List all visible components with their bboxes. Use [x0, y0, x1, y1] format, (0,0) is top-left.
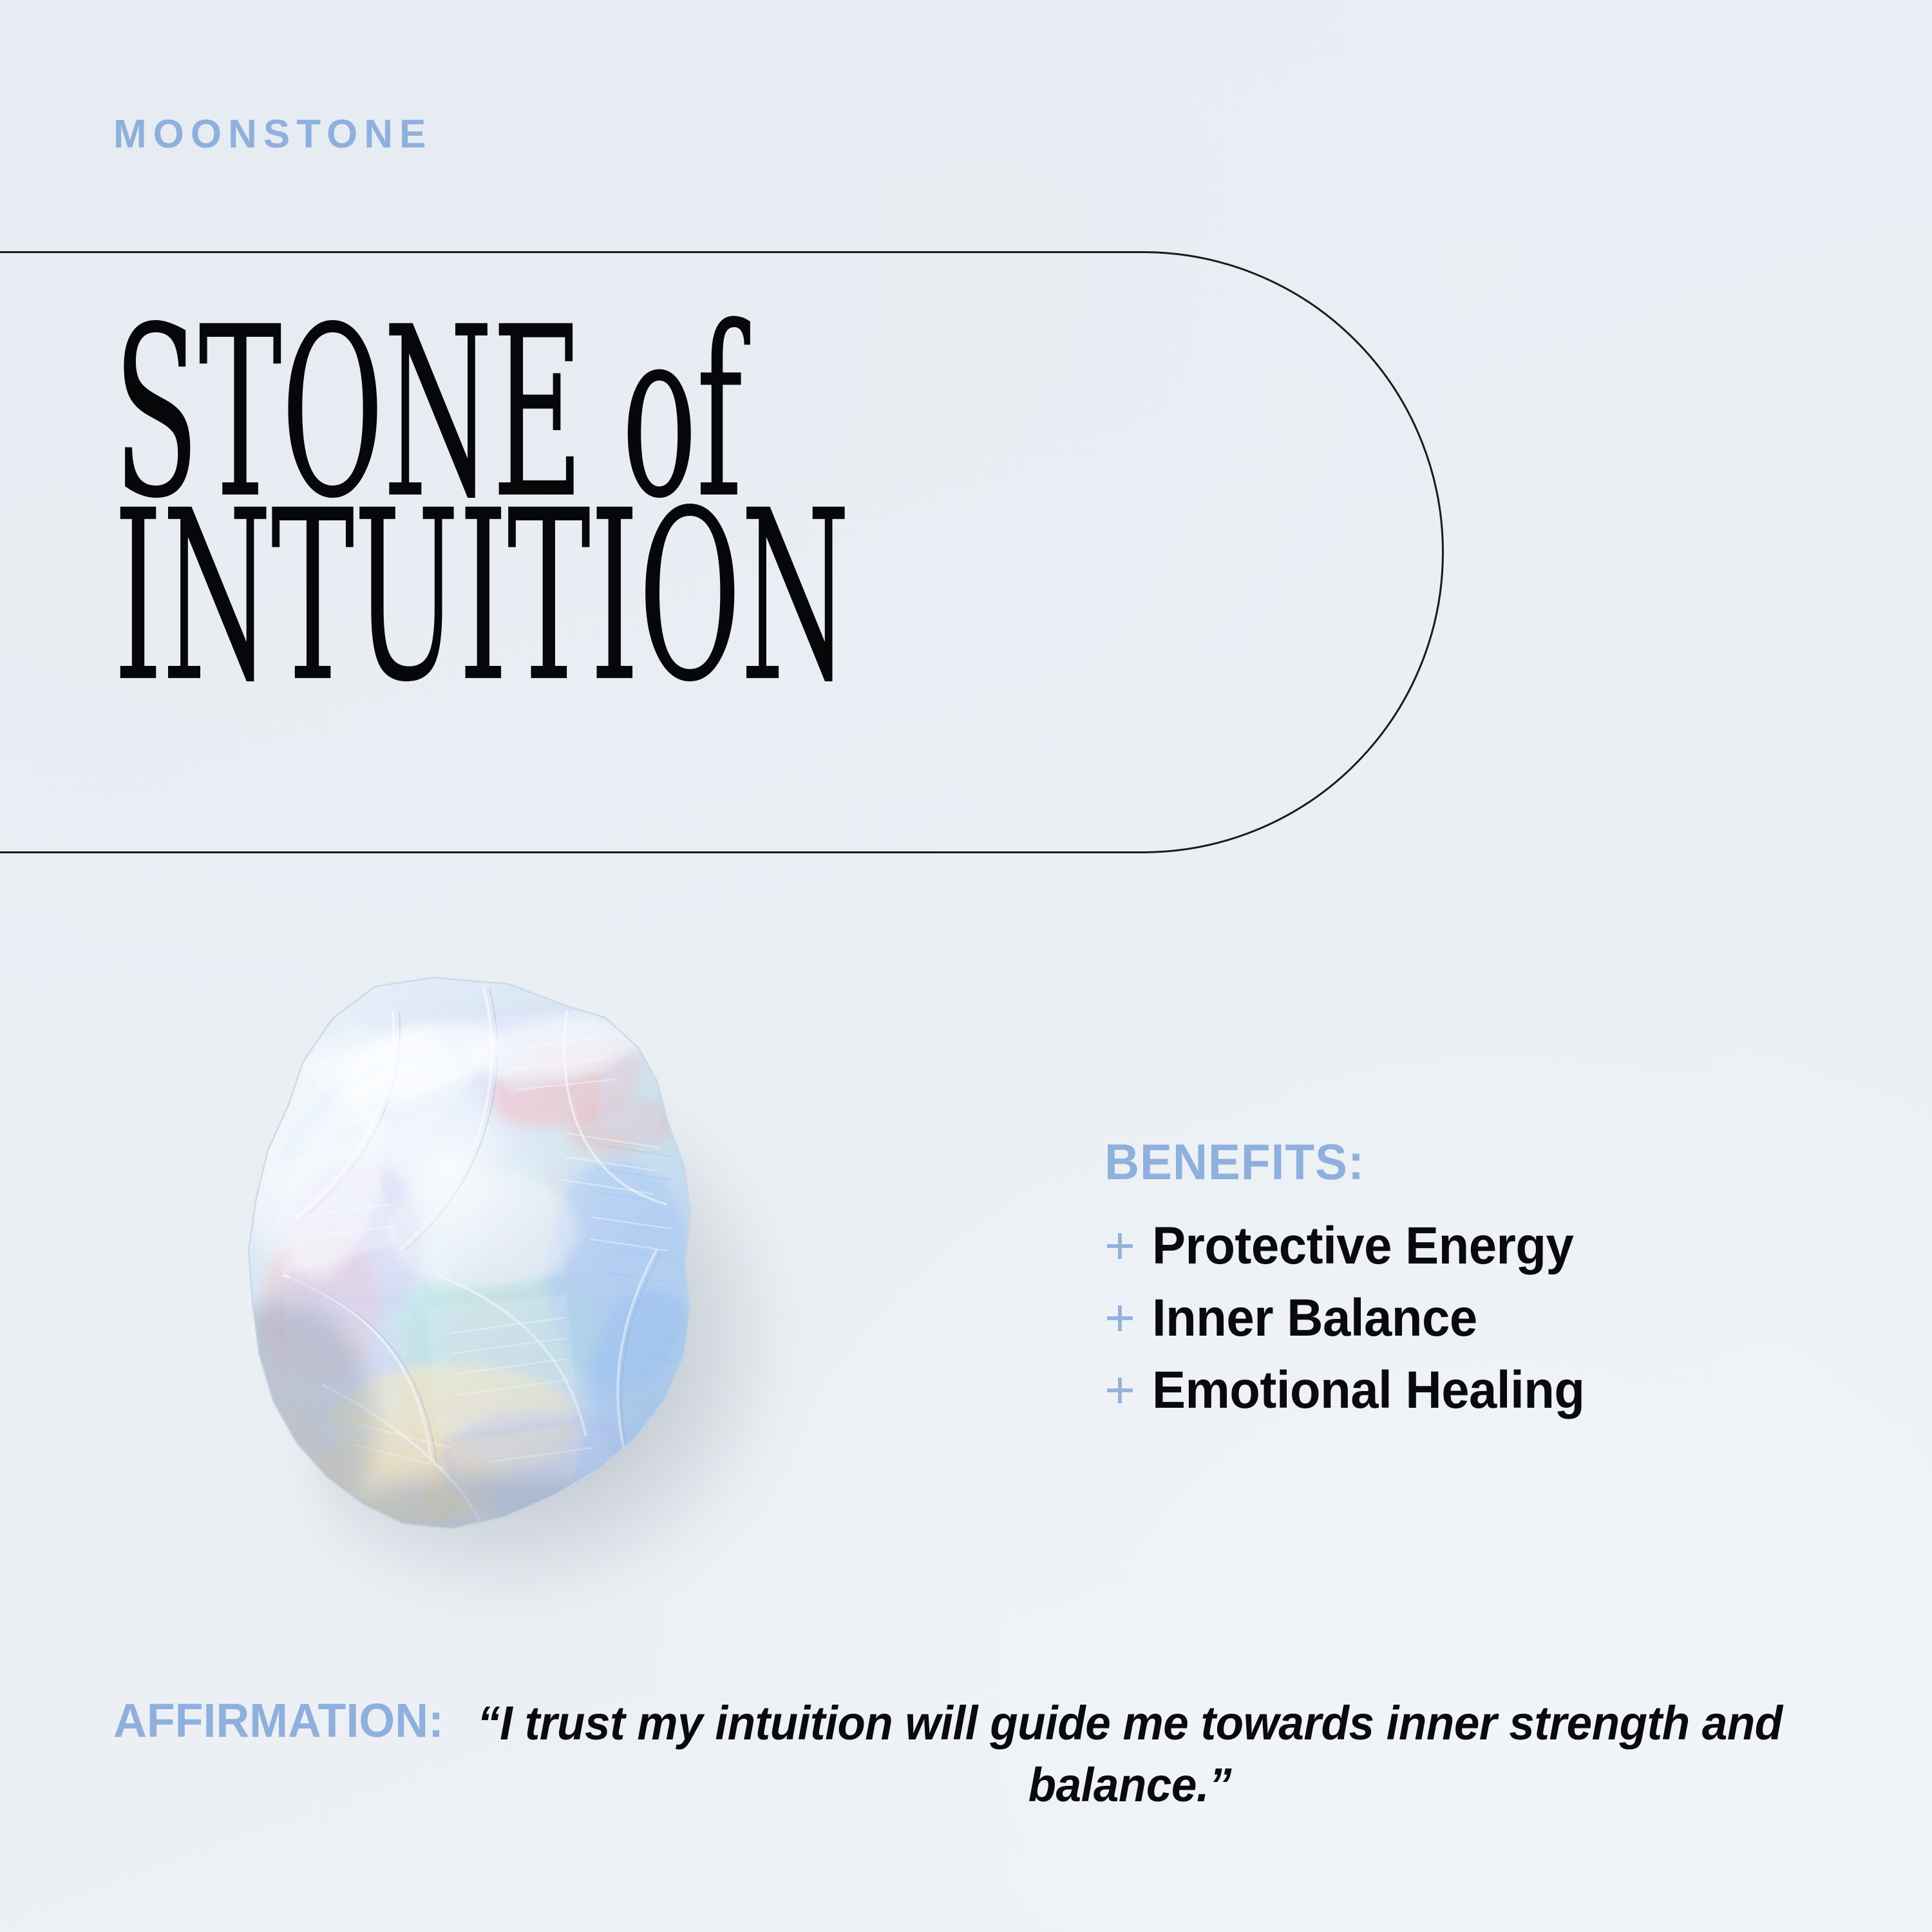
plus-icon: + — [1104, 1220, 1152, 1273]
moonstone-crystal-icon — [206, 972, 715, 1555]
affirmation-label: AFFIRMATION: — [113, 1692, 453, 1748]
plus-icon: + — [1104, 1364, 1152, 1417]
benefit-item-inner-balance: + Inner Balance — [1104, 1282, 1877, 1354]
benefits-heading: BENEFITS: — [1104, 1137, 1846, 1187]
benefit-item-protective-energy: + Protective Energy — [1104, 1210, 1877, 1282]
benefit-item-emotional-healing: + Emotional Healing — [1104, 1354, 1877, 1426]
benefits-section: BENEFITS: + Protective Energy + Inner Ba… — [1104, 1137, 1877, 1426]
plus-icon: + — [1104, 1292, 1152, 1345]
benefit-label: Protective Energy — [1152, 1220, 1573, 1273]
benefit-label: Emotional Healing — [1152, 1364, 1584, 1417]
category-eyebrow-label: MOONSTONE — [113, 115, 432, 155]
affirmation-section: AFFIRMATION: “I trust my intuition will … — [113, 1692, 1852, 1816]
affirmation-quote: “I trust my intuition will guide me towa… — [463, 1692, 1797, 1816]
title-line2: INTUITION — [113, 486, 1118, 707]
page-title: STONE of INTUITION — [113, 303, 1401, 638]
moonstone-figure — [206, 972, 741, 1578]
benefit-label: Inner Balance — [1152, 1292, 1477, 1345]
